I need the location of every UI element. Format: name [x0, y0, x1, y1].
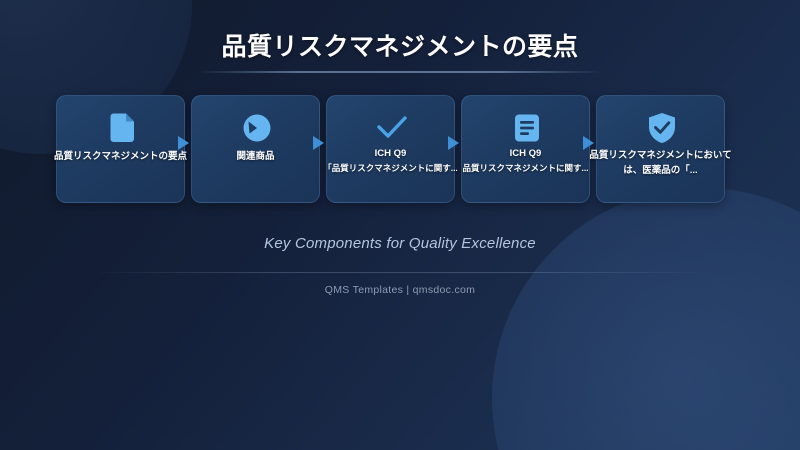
card-4-subtitle: 品質リスクマネジメントに関す...	[462, 162, 588, 174]
footer-divider	[100, 272, 700, 273]
card-3-subtitle: 「品質リスクマネジメントに関す...	[323, 162, 458, 174]
card-4-title: ICH Q9	[510, 148, 542, 159]
card-3-title: ICH Q9	[375, 148, 407, 159]
document-page-icon	[57, 110, 186, 146]
arrow-1-to-2	[178, 136, 189, 150]
card-2[interactable]: 関連商品	[191, 95, 320, 203]
slide-canvas: 品質リスクマネジメントの要点 品質リスクマネジメントの要点 関連商品	[0, 0, 800, 450]
decorative-circle-bottom-right	[492, 188, 800, 450]
page-subtitle: Key Components for Quality Excellence	[0, 235, 800, 252]
card-4[interactable]: ICH Q9 品質リスクマネジメントに関す...	[461, 95, 590, 203]
card-2-title: 関連商品	[236, 148, 274, 162]
footer-text: QMS Templates | qmsdoc.com	[0, 284, 800, 296]
card-3[interactable]: ICH Q9 「品質リスクマネジメントに関す...	[326, 95, 455, 203]
arrow-2-to-3	[313, 136, 324, 150]
arrow-4-to-5	[583, 136, 594, 150]
card-5-title: 品質リスクマネジメントにおいては、医薬品の「...	[586, 148, 736, 178]
card-row: 品質リスクマネジメントの要点 関連商品 ICH Q9 「品質リスクマネジメントに…	[56, 95, 746, 205]
check-mark-icon	[327, 110, 456, 146]
card-1[interactable]: 品質リスクマネジメントの要点	[56, 95, 185, 203]
pie-circle-icon	[192, 110, 321, 146]
shield-check-icon	[597, 110, 726, 146]
card-5[interactable]: 品質リスクマネジメントにおいては、医薬品の「...	[596, 95, 725, 203]
arrow-3-to-4	[448, 136, 459, 150]
card-1-title: 品質リスクマネジメントの要点	[54, 148, 187, 162]
document-lines-icon	[462, 110, 591, 146]
page-title: 品質リスクマネジメントの要点	[0, 27, 800, 63]
title-divider	[200, 71, 600, 73]
